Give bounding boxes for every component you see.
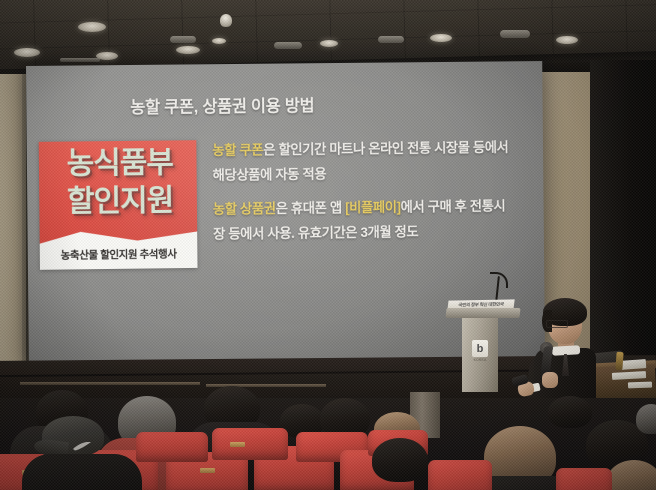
- ceiling-rail: [60, 58, 100, 62]
- ceiling-smoke-detector-icon: [220, 14, 232, 27]
- speaker-glasses-icon: [546, 320, 568, 328]
- poster-subtitle: 농축산물 할인지원 추석행사: [40, 246, 198, 263]
- ceiling-speaker-icon: [378, 36, 404, 43]
- audience-head: [548, 396, 592, 428]
- podium-top-surface: [445, 308, 520, 318]
- desk-paper: [620, 359, 647, 370]
- auditorium-seat: [212, 428, 288, 460]
- desk-paper: [628, 382, 652, 389]
- podium-logo-caption: KOREA: [468, 358, 492, 362]
- auditorium-presentation-photo: 농할 쿠폰, 상품권 이용 방법 농식품부 할인지원 농축산물 할인지원 추석행…: [0, 0, 656, 490]
- slide-paragraph-2: 농할 상품권은 휴대폰 앱 [비플페이]에서 구매 후 전통시장 등에서 사용.…: [213, 193, 511, 246]
- poster-graphic: 농식품부 할인지원 농축산물 할인지원 추석행사: [39, 140, 198, 270]
- paragraph-2-highlight-2: [비플페이]: [345, 200, 401, 216]
- seat-plate: [200, 468, 215, 473]
- paragraph-1-highlight: 농할 쿠폰: [212, 142, 263, 158]
- seat-rail: [20, 382, 200, 385]
- ceiling-downlight-icon: [78, 22, 106, 32]
- ceiling-downlight-icon: [556, 36, 578, 44]
- ceiling-downlight-icon: [14, 48, 40, 57]
- auditorium-seat: [428, 460, 492, 490]
- ceiling-speaker-icon: [500, 30, 530, 38]
- seat-plate: [230, 442, 245, 447]
- slide-title: 농할 쿠폰, 상품권 이용 방법: [130, 92, 314, 118]
- slide-body-text: 농할 쿠폰은 할인기간 마트나 온라인 전통 시장몰 등에서 해당상품에 자동 …: [212, 135, 510, 256]
- slide-paragraph-1: 농할 쿠폰은 할인기간 마트나 온라인 전통 시장몰 등에서 해당상품에 자동 …: [212, 135, 510, 188]
- poster-line-2: 할인지원: [45, 184, 195, 220]
- audience-head: [372, 438, 428, 482]
- desk-lamp-icon: [615, 352, 623, 370]
- ceiling-downlight-icon: [176, 46, 200, 54]
- paragraph-2-highlight: 농할 상품권: [213, 201, 276, 217]
- ceiling-speaker-icon: [274, 42, 302, 49]
- audience-head: [636, 404, 656, 434]
- auditorium-seat: [556, 468, 612, 490]
- auditorium-seat: [136, 432, 208, 462]
- audience-shoulders: [22, 454, 142, 490]
- nike-swoosh-icon: [72, 442, 92, 451]
- ceiling-downlight-icon: [212, 38, 226, 44]
- poster-line-1: 농식품부: [45, 146, 195, 182]
- paragraph-2-mid: 은 휴대폰 앱: [276, 200, 346, 216]
- podium: 국민의 정부 혁신 대한민국 b KOREA: [452, 294, 514, 394]
- speaker-hand-holding-mic: [542, 372, 558, 388]
- audience-area: [0, 398, 656, 490]
- ceiling-speaker-icon: [170, 36, 196, 43]
- speaker-person: [524, 298, 616, 410]
- ceiling-downlight-icon: [430, 34, 452, 42]
- podium-logo-icon: b: [472, 340, 488, 357]
- ceiling-downlight-icon: [320, 40, 338, 47]
